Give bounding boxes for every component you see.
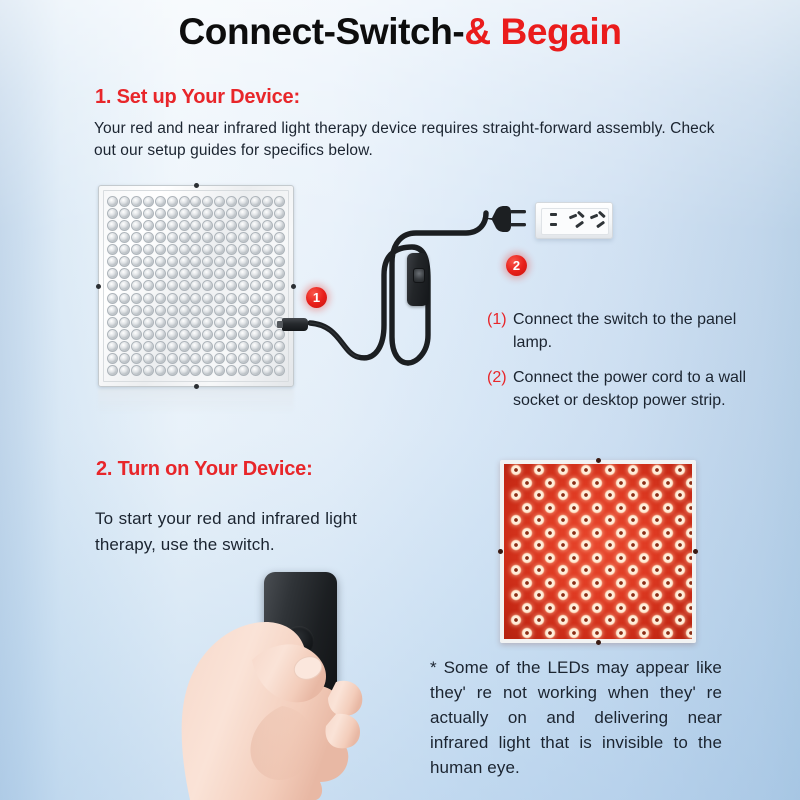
led-unlit-icon	[262, 196, 273, 207]
led-unlit-icon	[143, 220, 154, 231]
led-lit-icon	[651, 514, 663, 526]
hand-illustration	[86, 556, 446, 800]
led-unlit-icon	[179, 341, 190, 352]
led-lit-icon	[544, 627, 556, 639]
led-unlit-icon	[143, 317, 154, 328]
led-lit-icon	[568, 527, 580, 539]
led-unlit-icon	[107, 256, 118, 267]
led-lit-icon	[662, 477, 674, 489]
led-unlit-icon	[155, 365, 166, 376]
led-lit-icon	[615, 577, 627, 589]
led-unlit-icon	[238, 341, 249, 352]
led-unlit-icon	[155, 341, 166, 352]
led-lit-icon	[557, 614, 569, 626]
led-unlit-icon	[226, 365, 237, 376]
led-unlit-icon	[226, 353, 237, 364]
led-unlit-icon	[226, 268, 237, 279]
step-badge-2: 2	[506, 255, 527, 276]
wall-socket-outlet	[535, 202, 613, 239]
led-lit-icon	[604, 614, 616, 626]
led-lit-icon	[627, 614, 639, 626]
led-lit-icon	[568, 577, 580, 589]
panel-screw-left-icon	[498, 549, 503, 554]
led-lit-icon	[685, 502, 692, 514]
led-unlit-icon	[167, 305, 178, 316]
led-unlit-icon	[143, 244, 154, 255]
led-unlit-icon	[238, 305, 249, 316]
led-unlit-icon	[131, 268, 142, 279]
led-lit-icon	[627, 489, 639, 501]
led-unlit-icon	[107, 353, 118, 364]
led-lit-icon	[591, 552, 603, 564]
led-unlit-icon	[190, 196, 201, 207]
led-unlit-icon	[190, 317, 201, 328]
led-lit-icon	[591, 477, 603, 489]
led-unlit-icon	[119, 244, 130, 255]
led-lit-icon	[533, 514, 545, 526]
led-lit-icon	[604, 564, 616, 576]
led-unlit-icon	[143, 280, 154, 291]
plug-pin-lower	[510, 223, 526, 226]
led-lit-icon	[627, 589, 639, 601]
led-lit-icon	[568, 602, 580, 614]
led-lit-icon	[638, 602, 650, 614]
led-lit-icon	[674, 539, 686, 551]
led-unlit-icon	[179, 280, 190, 291]
led-unlit-icon	[131, 232, 142, 243]
led-unlit-icon	[119, 365, 130, 376]
led-unlit-icon	[214, 220, 225, 231]
led-unlit-icon	[119, 305, 130, 316]
led-unlit-icon	[179, 305, 190, 316]
led-unlit-icon	[190, 256, 201, 267]
led-lit-icon	[627, 514, 639, 526]
led-lit-icon	[615, 527, 627, 539]
led-lit-icon	[521, 502, 533, 514]
section-one-paragraph: Your red and near infrared light therapy…	[94, 118, 719, 162]
led-unlit-icon	[250, 365, 261, 376]
plug-pin-upper	[510, 210, 526, 213]
led-unlit-icon	[214, 208, 225, 219]
led-unlit-icon	[226, 196, 237, 207]
led-unlit-icon	[107, 220, 118, 231]
led-lit-icon	[627, 539, 639, 551]
led-lit-icon	[651, 489, 663, 501]
led-lit-icon	[510, 614, 522, 626]
panel-cable-connector	[282, 318, 308, 331]
hand-holding-switch	[86, 556, 446, 800]
led-unlit-icon	[250, 317, 261, 328]
led-unlit-icon	[179, 317, 190, 328]
led-unlit-icon	[238, 293, 249, 304]
led-lit-icon	[604, 489, 616, 501]
led-unlit-icon	[131, 305, 142, 316]
led-unlit-icon	[226, 232, 237, 243]
led-lit-icon	[533, 614, 545, 626]
instruction-number: (1)	[487, 308, 513, 354]
led-unlit-icon	[214, 317, 225, 328]
led-unlit-icon	[107, 268, 118, 279]
led-lit-icon	[615, 502, 627, 514]
led-unlit-icon	[190, 341, 201, 352]
led-lit-icon	[510, 514, 522, 526]
led-lit-icon	[533, 489, 545, 501]
led-panel-reflection	[98, 389, 294, 413]
led-unlit-icon	[179, 329, 190, 340]
led-unlit-icon	[119, 317, 130, 328]
led-unlit-icon	[131, 293, 142, 304]
led-lit-icon	[615, 552, 627, 564]
led-lit-icon	[591, 627, 603, 639]
led-unlit-icon	[107, 232, 118, 243]
led-unlit-icon	[250, 293, 261, 304]
led-unlit-icon	[107, 317, 118, 328]
rocker-button-icon[interactable]	[413, 268, 425, 283]
led-lit-icon	[685, 477, 692, 489]
instruction-list: (1) Connect the switch to the panel lamp…	[487, 308, 757, 424]
led-lit-icon	[580, 464, 592, 476]
step-badge-1: 1	[306, 287, 327, 308]
led-unlit-icon	[214, 280, 225, 291]
led-unlit-icon	[214, 341, 225, 352]
led-lit-icon	[685, 552, 692, 564]
led-unlit-icon	[167, 341, 178, 352]
instruction-text: Connect the power cord to a wall socket …	[513, 366, 757, 412]
led-unlit-icon	[167, 317, 178, 328]
led-lit-icon	[521, 552, 533, 564]
led-lit-icon	[568, 477, 580, 489]
led-lit-icon	[638, 477, 650, 489]
led-unlit-icon	[262, 365, 273, 376]
led-unlit-icon	[167, 280, 178, 291]
led-unlit-icon	[190, 244, 201, 255]
led-lit-icon	[662, 627, 674, 639]
led-unlit-icon	[190, 268, 201, 279]
led-unlit-icon	[107, 365, 118, 376]
section-one-heading: 1. Set up Your Device:	[95, 86, 300, 109]
led-unlit-icon	[107, 329, 118, 340]
led-lit-icon	[662, 552, 674, 564]
led-unlit-icon	[143, 329, 154, 340]
led-unlit-icon	[167, 196, 178, 207]
instruction-item: (2) Connect the power cord to a wall soc…	[487, 366, 757, 412]
led-unlit-icon	[107, 280, 118, 291]
led-unlit-icon	[226, 329, 237, 340]
led-unlit-icon	[143, 353, 154, 364]
led-unlit-icon	[155, 305, 166, 316]
led-unlit-icon	[119, 208, 130, 219]
led-unlit-icon	[202, 329, 213, 340]
led-unlit-icon	[119, 341, 130, 352]
led-unlit-icon	[190, 353, 201, 364]
led-lit-icon	[638, 577, 650, 589]
led-unlit-icon	[238, 280, 249, 291]
led-lit-icon	[544, 552, 556, 564]
section-two-paragraph: To start your red and infrared light the…	[95, 506, 357, 558]
led-unlit-icon	[167, 353, 178, 364]
instruction-item: (1) Connect the switch to the panel lamp…	[487, 308, 757, 354]
led-unlit-icon	[190, 305, 201, 316]
instruction-page: Connect-Switch-& Begain 1. Set up Your D…	[0, 0, 800, 800]
led-unlit-icon	[179, 353, 190, 364]
led-visibility-note: * Some of the LEDs may appear like they'…	[430, 655, 722, 780]
led-lit-icon	[544, 527, 556, 539]
led-lit-icon	[638, 527, 650, 539]
led-lit-icon	[662, 602, 674, 614]
section-two-heading: 2. Turn on Your Device:	[96, 458, 313, 481]
led-unlit-icon	[202, 341, 213, 352]
led-unlit-icon	[155, 353, 166, 364]
led-unlit-icon	[119, 353, 130, 364]
led-unlit-icon	[214, 256, 225, 267]
led-unlit-icon	[250, 305, 261, 316]
led-unlit-icon	[167, 220, 178, 231]
led-lit-icon	[685, 627, 692, 639]
led-unlit-icon	[190, 293, 201, 304]
led-unlit-icon	[214, 232, 225, 243]
led-panel-unlit-body	[98, 185, 294, 387]
led-unlit-icon	[179, 244, 190, 255]
led-lit-icon	[521, 627, 533, 639]
led-unlit-icon	[238, 244, 249, 255]
led-lit-icon	[557, 539, 569, 551]
led-unlit-icon	[250, 232, 261, 243]
two-pin-plug	[483, 205, 527, 233]
led-unlit-icon	[155, 280, 166, 291]
led-unlit-icon	[179, 256, 190, 267]
plug-body	[483, 206, 511, 232]
led-grid-unlit	[107, 195, 285, 377]
led-lit-icon	[674, 564, 686, 576]
led-unlit-icon	[238, 196, 249, 207]
led-lit-icon	[568, 502, 580, 514]
led-panel-lit-inner	[504, 464, 692, 639]
led-unlit-icon	[131, 365, 142, 376]
led-unlit-icon	[238, 317, 249, 328]
led-lit-icon	[580, 539, 592, 551]
led-lit-icon	[544, 577, 556, 589]
led-lit-icon	[651, 539, 663, 551]
led-unlit-icon	[119, 196, 130, 207]
led-unlit-icon	[167, 244, 178, 255]
inline-rocker-switch[interactable]	[407, 253, 428, 306]
led-unlit-icon	[262, 220, 273, 231]
led-lit-icon	[591, 527, 603, 539]
led-unlit-icon	[167, 268, 178, 279]
led-unlit-icon	[131, 196, 142, 207]
led-unlit-icon	[262, 268, 273, 279]
led-unlit-icon	[250, 341, 261, 352]
led-unlit-icon	[226, 280, 237, 291]
led-lit-icon	[544, 477, 556, 489]
led-lit-icon	[674, 614, 686, 626]
led-unlit-icon	[179, 365, 190, 376]
led-unlit-icon	[107, 293, 118, 304]
led-lit-icon	[662, 577, 674, 589]
led-lit-icon	[627, 564, 639, 576]
led-unlit-icon	[119, 329, 130, 340]
led-unlit-icon	[167, 293, 178, 304]
led-lit-icon	[580, 489, 592, 501]
led-unlit-icon	[250, 244, 261, 255]
led-unlit-icon	[226, 220, 237, 231]
led-unlit-icon	[143, 365, 154, 376]
led-lit-icon	[638, 502, 650, 514]
wall-socket-face	[541, 208, 609, 235]
led-unlit-icon	[250, 329, 261, 340]
led-lit-icon	[544, 502, 556, 514]
led-lit-icon	[674, 489, 686, 501]
panel-screw-top-icon	[194, 183, 199, 188]
led-unlit-icon	[190, 365, 201, 376]
led-unlit-icon	[250, 196, 261, 207]
led-unlit-icon	[155, 268, 166, 279]
led-unlit-icon	[119, 280, 130, 291]
led-unlit-icon	[202, 280, 213, 291]
led-lit-icon	[521, 527, 533, 539]
led-unlit-icon	[238, 353, 249, 364]
led-lit-icon	[521, 602, 533, 614]
led-lit-icon	[615, 627, 627, 639]
led-unlit-icon	[202, 293, 213, 304]
led-unlit-icon	[131, 329, 142, 340]
led-lit-icon	[521, 577, 533, 589]
led-unlit-icon	[143, 305, 154, 316]
page-title: Connect-Switch-& Begain	[0, 8, 800, 56]
led-unlit-icon	[143, 208, 154, 219]
led-unlit-icon	[214, 329, 225, 340]
led-lit-icon	[615, 602, 627, 614]
led-unlit-icon	[143, 196, 154, 207]
led-unlit-icon	[214, 365, 225, 376]
led-lit-icon	[591, 577, 603, 589]
instruction-number: (2)	[487, 366, 513, 412]
led-unlit-icon	[119, 232, 130, 243]
led-unlit-icon	[179, 293, 190, 304]
led-unlit-icon	[202, 317, 213, 328]
led-unlit-icon	[131, 244, 142, 255]
led-lit-icon	[568, 627, 580, 639]
led-lit-icon	[651, 589, 663, 601]
led-lit-icon	[651, 564, 663, 576]
led-lit-icon	[557, 489, 569, 501]
led-unlit-icon	[131, 256, 142, 267]
led-lit-icon	[557, 564, 569, 576]
led-lit-icon	[521, 477, 533, 489]
led-unlit-icon	[202, 208, 213, 219]
led-unlit-icon	[131, 220, 142, 231]
led-unlit-icon	[143, 341, 154, 352]
led-unlit-icon	[226, 293, 237, 304]
led-unlit-icon	[214, 244, 225, 255]
led-unlit-icon	[107, 305, 118, 316]
led-lit-icon	[510, 564, 522, 576]
led-unlit-icon	[238, 329, 249, 340]
led-lit-icon	[533, 539, 545, 551]
led-unlit-icon	[262, 293, 273, 304]
led-panel-lit-red	[500, 460, 696, 643]
led-unlit-icon	[226, 244, 237, 255]
panel-screw-right-icon	[693, 549, 698, 554]
led-unlit-icon	[119, 293, 130, 304]
led-lit-icon	[662, 502, 674, 514]
led-unlit-icon	[143, 268, 154, 279]
led-unlit-icon	[179, 232, 190, 243]
led-unlit-icon	[143, 232, 154, 243]
led-lit-icon	[580, 614, 592, 626]
led-unlit-icon	[238, 268, 249, 279]
led-unlit-icon	[179, 196, 190, 207]
led-unlit-icon	[250, 280, 261, 291]
led-lit-icon	[615, 477, 627, 489]
led-lit-icon	[662, 527, 674, 539]
led-lit-icon	[591, 602, 603, 614]
led-lit-icon	[685, 602, 692, 614]
led-unlit-icon	[214, 196, 225, 207]
led-unlit-icon	[155, 232, 166, 243]
led-unlit-icon	[143, 293, 154, 304]
led-lit-icon	[604, 589, 616, 601]
led-unlit-icon	[107, 208, 118, 219]
led-unlit-icon	[167, 208, 178, 219]
page-title-red: & Begain	[464, 11, 621, 52]
led-lit-icon	[557, 589, 569, 601]
led-unlit-icon	[131, 280, 142, 291]
led-unlit-icon	[131, 341, 142, 352]
led-unlit-icon	[190, 280, 201, 291]
led-unlit-icon	[238, 232, 249, 243]
page-title-black: Connect-Switch-	[178, 11, 464, 52]
led-unlit-icon	[119, 220, 130, 231]
led-lit-icon	[510, 589, 522, 601]
led-unlit-icon	[226, 208, 237, 219]
led-unlit-icon	[250, 256, 261, 267]
led-lit-icon	[568, 552, 580, 564]
led-lit-icon	[510, 489, 522, 501]
led-unlit-icon	[107, 341, 118, 352]
led-lit-icon	[685, 527, 692, 539]
led-lit-icon	[557, 514, 569, 526]
led-unlit-icon	[155, 244, 166, 255]
led-unlit-icon	[238, 256, 249, 267]
led-unlit-icon	[214, 268, 225, 279]
led-lit-icon	[544, 602, 556, 614]
led-lit-icon	[685, 577, 692, 589]
led-unlit-icon	[262, 305, 273, 316]
led-lit-icon	[638, 627, 650, 639]
led-unlit-icon	[226, 256, 237, 267]
led-unlit-icon	[190, 220, 201, 231]
led-unlit-icon	[155, 196, 166, 207]
hand-finger-upper	[328, 681, 362, 716]
led-unlit-icon	[262, 232, 273, 243]
led-lit-icon	[604, 514, 616, 526]
led-unlit-icon	[202, 256, 213, 267]
led-lit-icon	[557, 464, 569, 476]
led-unlit-icon	[214, 305, 225, 316]
led-unlit-icon	[143, 256, 154, 267]
led-lit-icon	[651, 464, 663, 476]
led-unlit-icon	[179, 208, 190, 219]
led-lit-icon	[627, 464, 639, 476]
led-unlit-icon	[238, 365, 249, 376]
led-unlit-icon	[214, 353, 225, 364]
led-lit-icon	[533, 589, 545, 601]
led-unlit-icon	[119, 268, 130, 279]
led-lit-icon	[638, 552, 650, 564]
led-unlit-icon	[262, 280, 273, 291]
led-unlit-icon	[119, 256, 130, 267]
